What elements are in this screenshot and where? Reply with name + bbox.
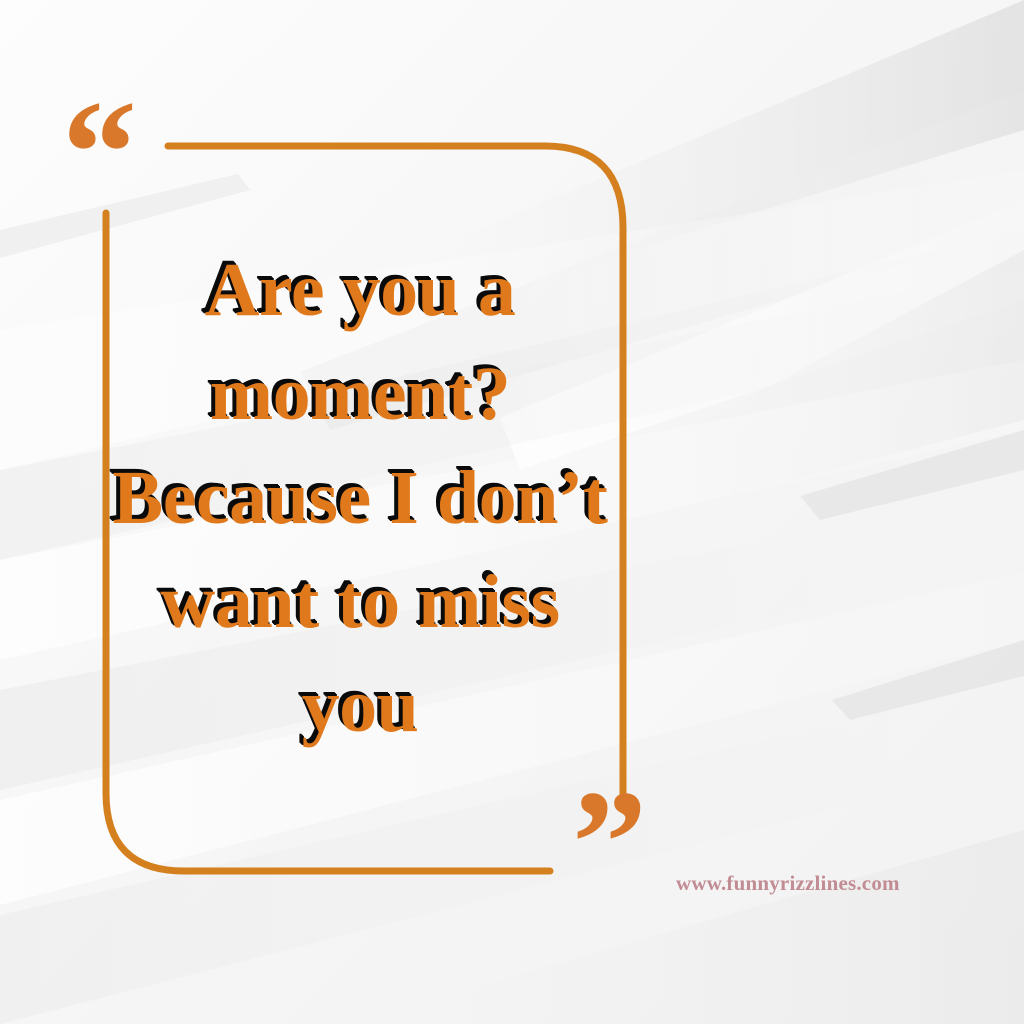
closing-quote-icon: ” (572, 768, 643, 918)
quote-line: you (96, 654, 624, 758)
quote-card: “ ” Are you a moment? Because I don’t wa… (0, 0, 1024, 1024)
quote-line: Are you a (96, 238, 624, 342)
watermark-url: www.funnyrizzlines.com (676, 871, 900, 896)
opening-quote-icon: “ (62, 78, 133, 228)
quote-line: Because I don’t (96, 446, 624, 550)
quote-text-block: Are you a moment? Because I don’t want t… (96, 238, 624, 758)
quote-line: want to miss (96, 550, 624, 654)
quote-line: moment? (96, 342, 624, 446)
